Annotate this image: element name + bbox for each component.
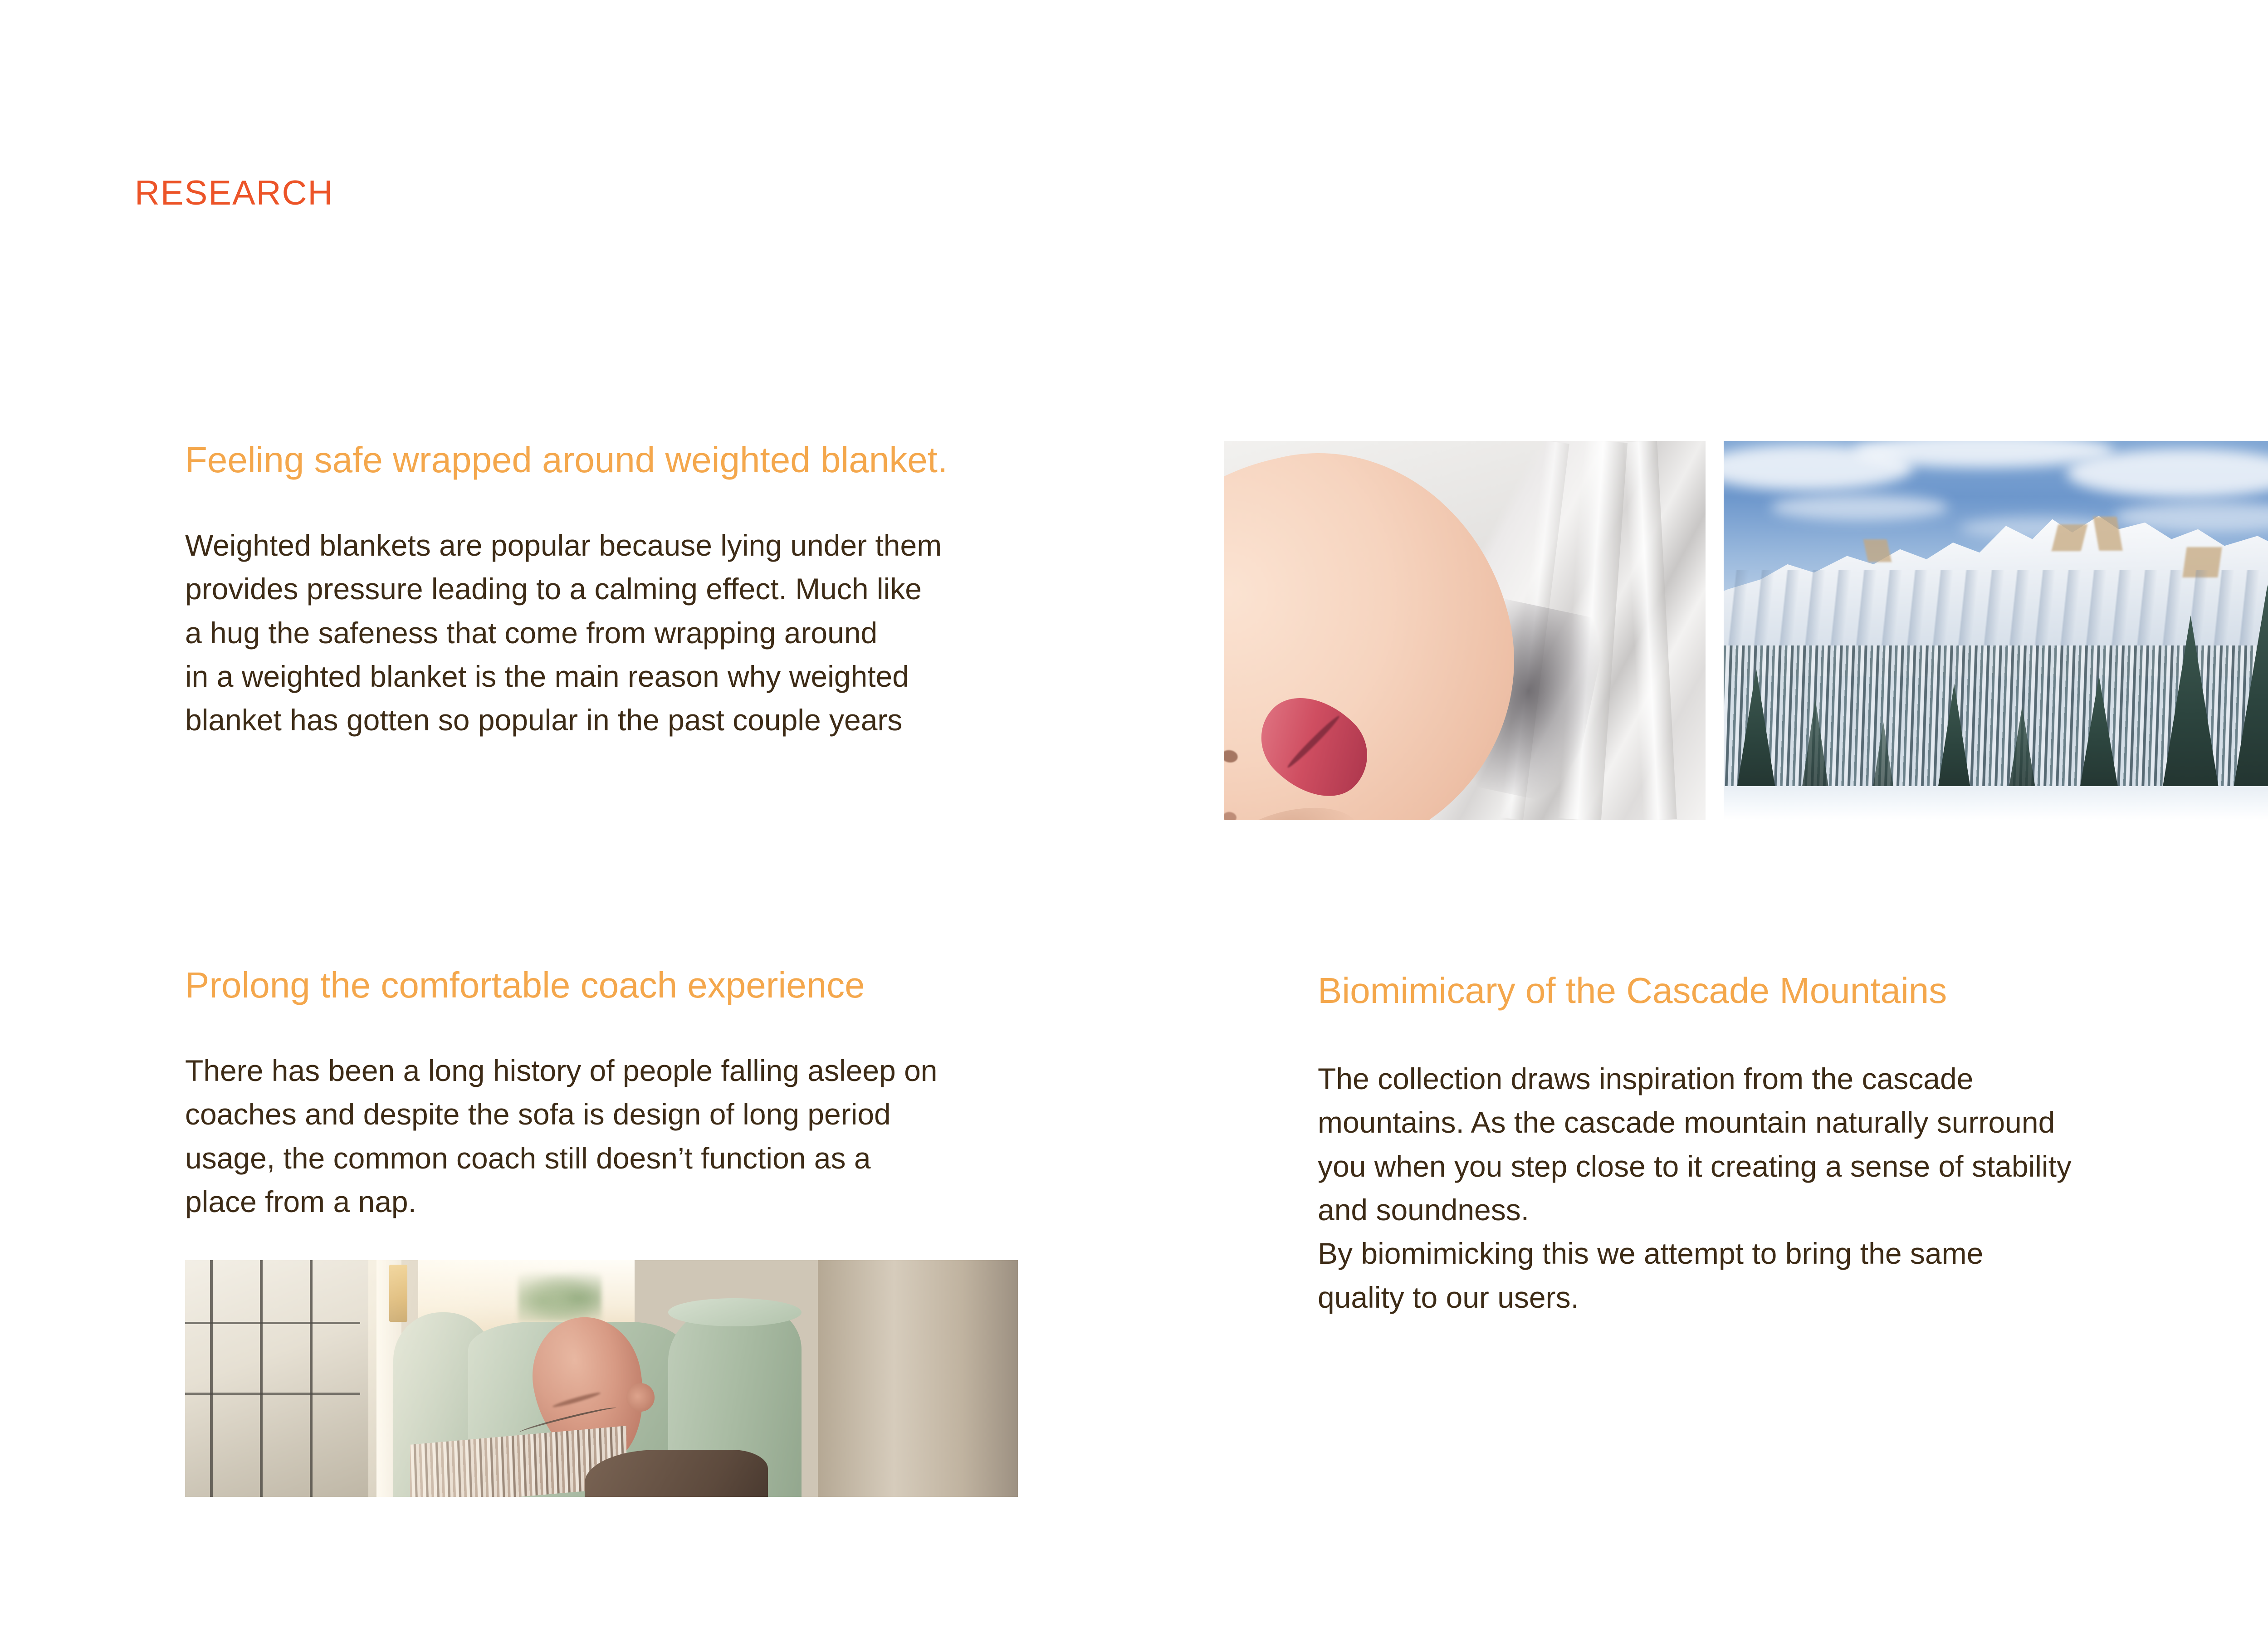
heading-weighted-blanket: Feeling safe wrapped around weighted bla… xyxy=(185,441,948,479)
outdoor-foliage xyxy=(518,1270,601,1322)
baby-nostril xyxy=(1224,811,1237,820)
man-shoulder xyxy=(585,1450,768,1497)
slide-section-label: RESEARCH xyxy=(135,173,333,213)
window-grille xyxy=(310,1260,313,1497)
rock-outcrop xyxy=(1863,539,1892,562)
image-sleeping-baby xyxy=(1224,441,1706,820)
body-biomimicry: The collection draws inspiration from th… xyxy=(1318,1057,2268,1319)
window-grille xyxy=(185,1322,360,1324)
window-grille xyxy=(185,1393,360,1395)
window xyxy=(185,1260,393,1497)
snow-field xyxy=(1724,786,2268,820)
curtain xyxy=(818,1260,1018,1497)
heading-biomimicry: Biomimicary of the Cascade Mountains xyxy=(1318,972,1947,1010)
armchair-roll xyxy=(668,1298,802,1327)
brass-handle xyxy=(389,1265,407,1321)
baby-lips xyxy=(1243,675,1386,818)
baby-nostril xyxy=(1224,749,1238,763)
image-man-napping xyxy=(185,1260,1018,1497)
baby-chin-shadow xyxy=(1224,796,1365,820)
window-grille xyxy=(210,1260,213,1497)
heading-coach-experience: Prolong the comfortable coach experience xyxy=(185,966,865,1004)
image-cascade-mountain xyxy=(1724,441,2268,820)
cloud xyxy=(1771,494,1948,521)
body-coach-experience: There has been a long history of people … xyxy=(185,1049,1119,1223)
body-weighted-blanket: Weighted blankets are popular because ly… xyxy=(185,523,1147,742)
window-grille xyxy=(260,1260,263,1497)
